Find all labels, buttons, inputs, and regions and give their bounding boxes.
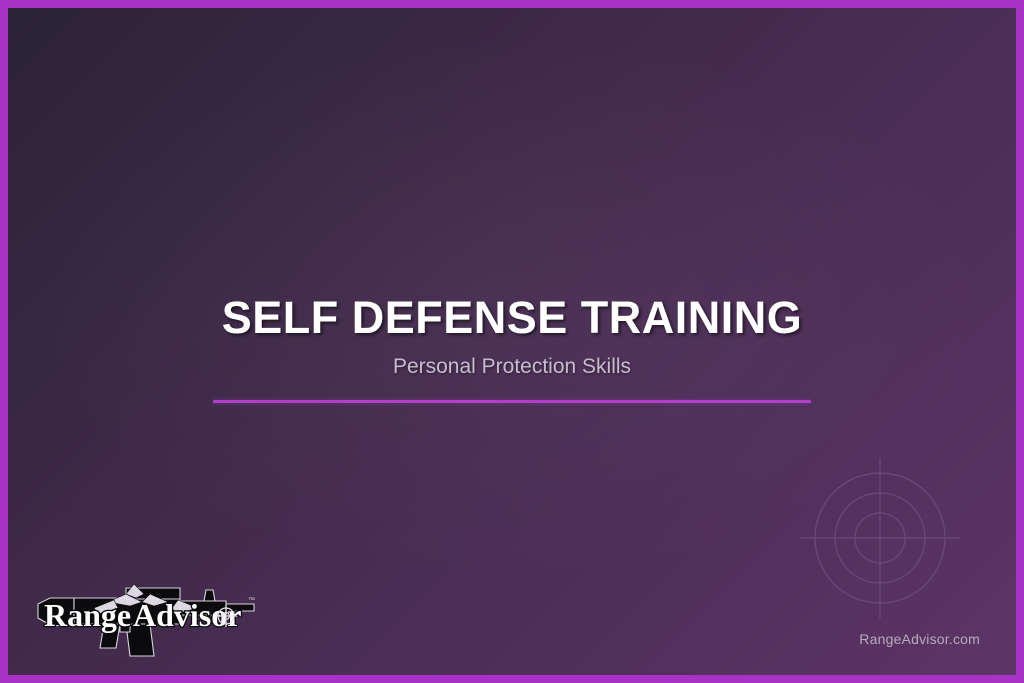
crosshair-target-icon	[800, 458, 960, 618]
footer-website-url: RangeAdvisor.com	[859, 631, 980, 647]
title-divider	[213, 400, 811, 403]
logo-wordmark: Range Advisor	[44, 597, 241, 633]
presentation-slide: SELF DEFENSE TRAINING Personal Protectio…	[0, 0, 1024, 683]
logo-text-range: Range	[44, 597, 131, 633]
logo-trademark: ™	[248, 597, 255, 604]
rangeadvisor-logo: Range Advisor ™	[30, 568, 266, 660]
logo-text-advisor: Advisor	[133, 597, 241, 633]
page-title: SELF DEFENSE TRAINING	[8, 294, 1016, 341]
page-subtitle: Personal Protection Skills	[8, 355, 1016, 379]
title-block: SELF DEFENSE TRAINING Personal Protectio…	[8, 294, 1016, 403]
